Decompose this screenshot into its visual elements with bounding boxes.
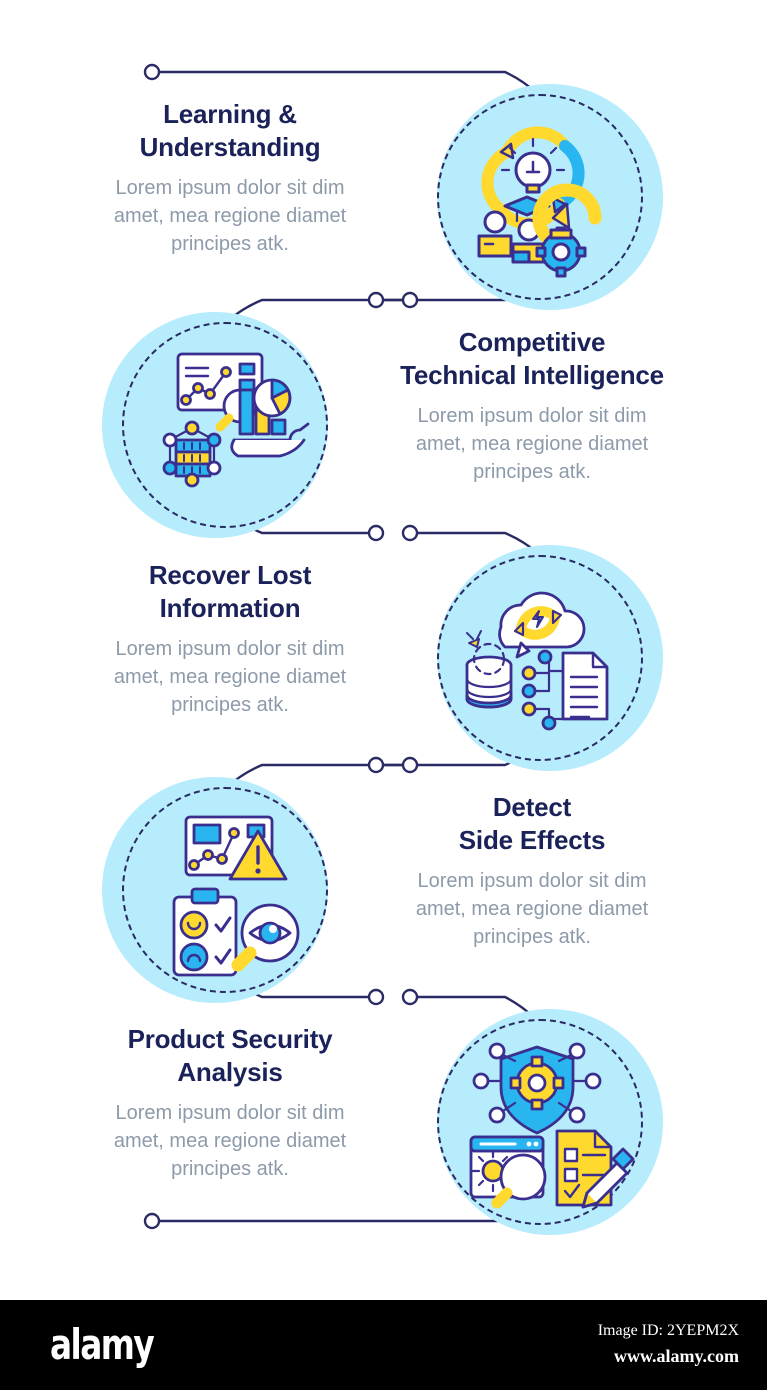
image-id-label: Image ID: 2YEPM2X [598, 1322, 739, 1340]
step-3-text: Recover Lost Information Lorem ipsum dol… [70, 559, 390, 720]
infographic-canvas: Learning & Understanding Lorem ipsum dol… [0, 0, 767, 1300]
step-5-title: Product Security Analysis [70, 1023, 390, 1090]
alamy-url-label: www.alamy.com [614, 1346, 739, 1367]
recover-lost-information-icon [445, 561, 637, 753]
step-2-title: Competitive Technical Intelligence [372, 326, 692, 393]
step-5-text: Product Security Analysis Lorem ipsum do… [70, 1023, 390, 1184]
step-3-description: Lorem ipsum dolor sit dim amet, mea regi… [70, 635, 390, 720]
step-4-icon-container[interactable] [100, 765, 350, 1015]
step-2-description: Lorem ipsum dolor sit dim amet, mea regi… [372, 402, 692, 487]
step-1-title: Learning & Understanding [70, 98, 390, 165]
step-4-description: Lorem ipsum dolor sit dim amet, mea regi… [372, 867, 692, 952]
product-security-analysis-icon [445, 1025, 637, 1217]
step-3-icon-container[interactable] [415, 533, 665, 783]
step-row-4: Detect Side Effects Lorem ipsum dolor si… [0, 765, 767, 1015]
step-row-1: Learning & Understanding Lorem ipsum dol… [0, 72, 767, 322]
step-1-description: Lorem ipsum dolor sit dim amet, mea regi… [70, 174, 390, 259]
alamy-logo: alamy [50, 1320, 153, 1369]
step-2-text: Competitive Technical Intelligence Lorem… [372, 326, 692, 487]
step-2-icon-container[interactable] [100, 300, 350, 550]
step-4-text: Detect Side Effects Lorem ipsum dolor si… [372, 791, 692, 952]
alamy-watermark-bar: alamy Image ID: 2YEPM2X www.alamy.com [0, 1300, 767, 1390]
step-1-icon-container[interactable] [415, 72, 665, 322]
step-5-description: Lorem ipsum dolor sit dim amet, mea regi… [70, 1099, 390, 1184]
step-row-5: Product Security Analysis Lorem ipsum do… [0, 997, 767, 1247]
step-4-title: Detect Side Effects [372, 791, 692, 858]
step-1-text: Learning & Understanding Lorem ipsum dol… [70, 98, 390, 259]
learning-understanding-icon [445, 100, 637, 292]
step-row-3: Recover Lost Information Lorem ipsum dol… [0, 533, 767, 783]
detect-side-effects-icon [130, 793, 322, 985]
step-3-title: Recover Lost Information [70, 559, 390, 626]
step-row-2: Competitive Technical Intelligence Lorem… [0, 300, 767, 550]
competitive-technical-intelligence-icon [130, 328, 322, 520]
step-5-icon-container[interactable] [415, 997, 665, 1247]
